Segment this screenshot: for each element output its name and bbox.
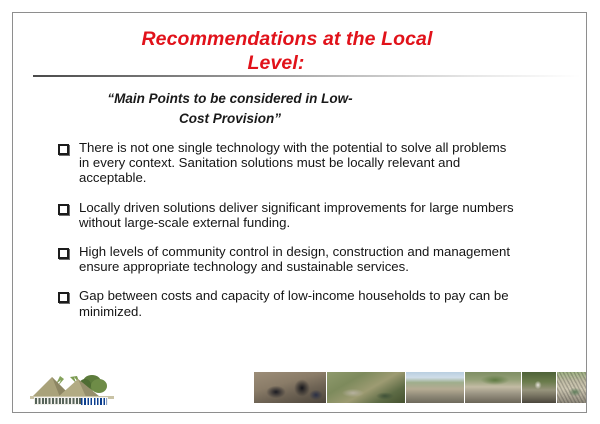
logo-wordmark-text [35,398,81,404]
hollow-square-bullet-icon [58,248,69,259]
list-item-text: Locally driven solutions deliver signifi… [79,200,519,230]
list-item-text: There is not one single technology with … [79,140,519,186]
list-item: There is not one single technology with … [58,140,528,186]
list-item: High levels of community control in desi… [58,244,528,274]
list-item-text: High levels of community control in desi… [79,244,519,274]
photo-workers-at-sanitation-site [254,372,327,403]
hollow-square-bullet-icon [58,292,69,303]
logo-wordmark [34,397,108,405]
photo-aerial-view-treatment-ponds [557,372,587,403]
list-item-text: Gap between costs and capacity of low-in… [79,288,519,318]
list-item: Gap between costs and capacity of low-in… [58,288,528,318]
title-divider [33,75,581,77]
slide-title-line-2: Level: [55,51,497,75]
logo-wave-pattern-icon [81,398,107,405]
photo-person-beside-water-tank [522,372,557,403]
slide-subtitle-line-2: Cost Provision” [65,109,395,129]
photo-bridge-over-embankment [465,372,522,403]
photo-roadside-canal-with-railing [406,372,465,403]
photo-strip [254,372,587,403]
hollow-square-bullet-icon [58,144,69,155]
slide-subtitle: “Main Points to be considered in Low- Co… [65,89,395,129]
hollow-square-bullet-icon [58,204,69,215]
organisation-logo [30,370,114,412]
slide-title-line-1: Recommendations at the Local [77,27,497,51]
photo-polluted-drain-with-rubble [327,372,406,403]
list-item: Locally driven solutions deliver signifi… [58,200,528,230]
slide-title: Recommendations at the Local Level: [77,27,497,75]
slide-root: Recommendations at the Local Level: “Mai… [0,0,600,424]
slide-subtitle-line-1: “Main Points to be considered in Low- [65,89,395,109]
slide-frame: Recommendations at the Local Level: “Mai… [12,12,587,413]
bullet-list: There is not one single technology with … [58,140,528,333]
